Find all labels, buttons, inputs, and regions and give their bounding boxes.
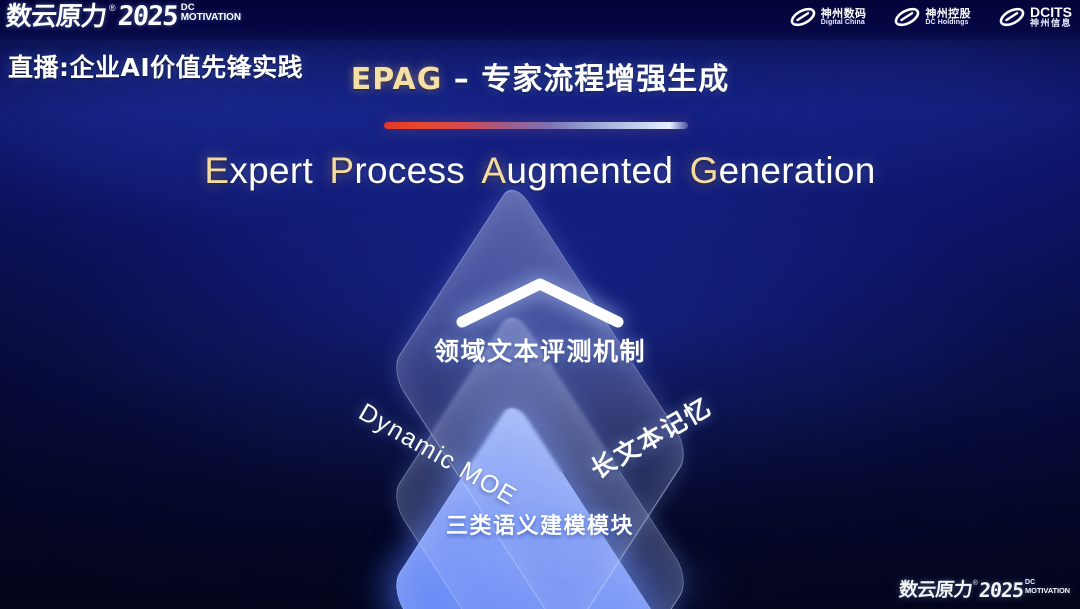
brand-logo-dc-motivation: DC MOTIVATION — [181, 3, 241, 23]
partner-name-en: Digital China — [821, 19, 867, 26]
watermark-logo-year: 2025 — [978, 579, 1024, 601]
partner-logo-text: 神州控股 DC Holdings — [925, 8, 971, 27]
partner-logo-dc-holdings: 神州控股 DC Holdings — [894, 6, 971, 28]
brand-logo-cn: 数云原力 — [5, 2, 108, 32]
page-title-acronym: EPAG — [351, 62, 443, 97]
partner-name-en: DC Holdings — [925, 19, 971, 26]
swoosh-icon — [999, 6, 1025, 28]
partner-logo-group: 神州数码 Digital China 神州控股 DC Holdings — [790, 5, 1072, 29]
brand-logo-dc-line2: MOTIVATION — [181, 13, 241, 23]
subtitle-cap-p: P — [329, 150, 354, 191]
live-stream-title: 直播:企业AI价值先锋实践 — [8, 48, 303, 84]
subtitle-rest-process: rocess — [354, 150, 465, 191]
page-title-separator: – — [442, 62, 481, 97]
watermark-dc-motivation: DC MOTIVATION — [1025, 579, 1070, 594]
partner-name-cn: 神州控股 — [925, 8, 971, 20]
watermark-registered-mark: ® — [973, 579, 978, 588]
brand-logo: 数云原力 ® 2025 DC MOTIVATION — [6, 2, 241, 32]
chevron-up-icon — [452, 272, 628, 332]
page-title-chinese: 专家流程增强生成 — [481, 62, 729, 97]
brand-logo-year: 2025 — [116, 2, 178, 32]
watermark-logo-cn: 数云原力 — [898, 579, 973, 601]
watermark-dc-line2: MOTIVATION — [1025, 587, 1070, 595]
slide-stage: 数云原力 ® 2025 DC MOTIVATION 直播:企业AI价值先锋实践 … — [0, 0, 1080, 609]
subtitle-cap-e: E — [204, 150, 229, 191]
watermark-logo: 数云原力 ® 2025 DC MOTIVATION — [899, 579, 1070, 601]
partner-logo-text: DCITS 神州信息 — [1030, 5, 1072, 29]
diagram-label-bottom: 三类语义建模模块 — [0, 508, 1080, 540]
subtitle-word-augmented: Augmented — [481, 150, 673, 191]
partner-name-cn: 神州数码 — [821, 8, 867, 20]
brand-logo-registered-mark: ® — [109, 2, 116, 14]
subtitle-cap-g: G — [690, 150, 719, 191]
partner-logo-dcits: DCITS 神州信息 — [999, 5, 1072, 29]
subtitle-rest-expert: xpert — [229, 150, 313, 191]
page-subtitle: ExpertProcessAugmentedGeneration — [0, 150, 1080, 192]
swoosh-icon — [894, 6, 920, 28]
partner-logo-digital-china: 神州数码 Digital China — [790, 6, 867, 28]
partner-name-en: 神州信息 — [1030, 20, 1072, 29]
diagram-label-top: 领域文本评测机制 — [0, 332, 1080, 368]
subtitle-rest-augmented: ugmented — [506, 150, 673, 191]
subtitle-cap-a: A — [481, 150, 506, 191]
subtitle-rest-generation: eneration — [719, 150, 876, 191]
subtitle-word-expert: Expert — [204, 150, 313, 191]
partner-name-cn: DCITS — [1030, 5, 1072, 20]
partner-logo-text: 神州数码 Digital China — [821, 8, 867, 27]
title-divider — [384, 122, 688, 129]
subtitle-word-generation: Generation — [690, 150, 876, 191]
subtitle-word-process: Process — [329, 150, 465, 191]
swoosh-icon — [790, 6, 816, 28]
